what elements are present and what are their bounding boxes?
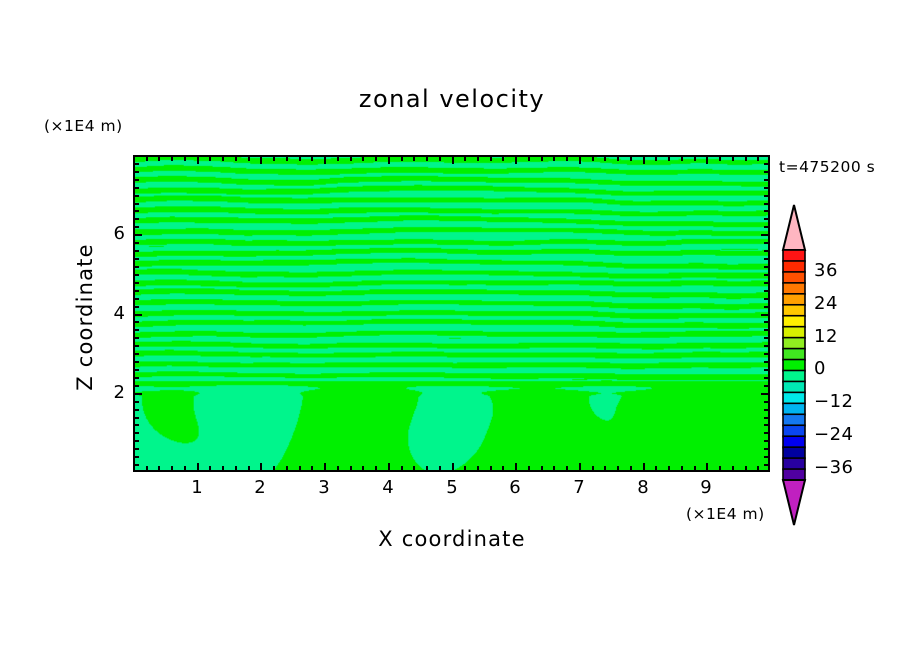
x-major-tick: [515, 463, 517, 470]
x-major-tick: [579, 463, 581, 470]
y-minor-tick: [135, 377, 139, 379]
x-minor-tick: [553, 466, 555, 470]
x-minor-tick: [566, 157, 568, 161]
x-major-tick: [324, 463, 326, 470]
colorbar: [779, 204, 809, 526]
x-minor-tick: [222, 466, 224, 470]
x-major-tick: [388, 463, 390, 470]
y-minor-tick: [135, 361, 139, 363]
x-minor-tick: [362, 466, 364, 470]
x-major-tick: [388, 157, 390, 164]
x-minor-tick: [248, 466, 250, 470]
y-major-tick: [135, 393, 142, 395]
colorbar-band: [783, 425, 805, 436]
y-minor-tick: [135, 203, 139, 205]
y-minor-tick: [764, 266, 768, 268]
y-minor-tick: [135, 242, 139, 244]
contour-field: [135, 157, 768, 470]
x-minor-tick: [630, 157, 632, 161]
x-minor-tick: [158, 157, 160, 161]
colorbar-band: [783, 370, 805, 381]
x-minor-tick: [604, 466, 606, 470]
y-minor-tick: [764, 432, 768, 434]
x-tick-label-4: 4: [368, 477, 408, 498]
y-minor-tick: [764, 401, 768, 403]
colorbar-band: [783, 436, 805, 447]
y-minor-tick: [135, 424, 139, 426]
y-minor-tick: [764, 187, 768, 189]
x-minor-tick: [184, 466, 186, 470]
x-minor-tick: [337, 466, 339, 470]
colorbar-band: [783, 316, 805, 327]
y-minor-tick: [135, 171, 139, 173]
y-minor-tick: [764, 195, 768, 197]
x-minor-tick: [477, 466, 479, 470]
x-minor-tick: [719, 157, 721, 161]
x-major-tick: [643, 463, 645, 470]
colorbar-tick-label--12: −12: [814, 391, 854, 412]
x-minor-tick: [222, 157, 224, 161]
x-minor-tick: [413, 157, 415, 161]
y-minor-tick: [135, 345, 139, 347]
y-minor-tick: [135, 210, 139, 212]
y-minor-tick: [764, 345, 768, 347]
x-minor-tick: [592, 466, 594, 470]
x-major-tick: [515, 157, 517, 164]
x-minor-tick: [694, 157, 696, 161]
x-minor-tick: [235, 157, 237, 161]
x-minor-tick: [413, 466, 415, 470]
y-minor-tick: [764, 369, 768, 371]
x-minor-tick: [311, 157, 313, 161]
x-major-tick: [643, 157, 645, 164]
x-tick-label-5: 5: [432, 477, 472, 498]
x-minor-tick: [350, 157, 352, 161]
y-minor-tick: [764, 353, 768, 355]
x-major-tick: [197, 463, 199, 470]
colorbar-band: [783, 250, 805, 261]
x-minor-tick: [719, 466, 721, 470]
y-minor-tick: [764, 290, 768, 292]
y-minor-tick: [135, 321, 139, 323]
x-major-tick: [452, 157, 454, 164]
y-minor-tick: [135, 432, 139, 434]
x-minor-tick: [375, 466, 377, 470]
x-minor-tick: [426, 157, 428, 161]
x-minor-tick: [171, 157, 173, 161]
y-minor-tick: [135, 464, 139, 466]
y-minor-tick: [764, 298, 768, 300]
colorbar-band: [783, 392, 805, 403]
y-minor-tick: [135, 337, 139, 339]
colorbar-under-arrow: [783, 480, 805, 525]
y-minor-tick: [764, 258, 768, 260]
colorbar-tick-label-12: 12: [814, 326, 838, 347]
x-minor-tick: [273, 466, 275, 470]
x-minor-tick: [477, 157, 479, 161]
y-tick-label-2: 2: [85, 382, 125, 403]
x-tick-label-2: 2: [240, 477, 280, 498]
x-minor-tick: [464, 466, 466, 470]
plot-panel: [133, 155, 770, 472]
x-minor-tick: [235, 466, 237, 470]
y-minor-tick: [764, 409, 768, 411]
colorbar-band: [783, 414, 805, 425]
y-minor-tick: [764, 218, 768, 220]
y-minor-tick: [764, 203, 768, 205]
y-minor-tick: [135, 440, 139, 442]
timestamp-label: t=475200 s: [779, 158, 875, 176]
colorbar-band: [783, 360, 805, 371]
y-minor-tick: [764, 424, 768, 426]
x-axis-title: X coordinate: [0, 527, 904, 551]
x-major-tick: [706, 463, 708, 470]
y-minor-tick: [764, 329, 768, 331]
x-minor-tick: [745, 466, 747, 470]
y-minor-tick: [764, 456, 768, 458]
x-minor-tick: [248, 157, 250, 161]
y-minor-tick: [135, 298, 139, 300]
y-minor-tick: [764, 282, 768, 284]
x-minor-tick: [617, 466, 619, 470]
y-minor-tick: [764, 417, 768, 419]
y-minor-tick: [764, 306, 768, 308]
x-minor-tick: [311, 466, 313, 470]
x-minor-tick: [668, 466, 670, 470]
x-minor-tick: [209, 157, 211, 161]
colorbar-band: [783, 349, 805, 360]
y-minor-tick: [135, 353, 139, 355]
y-minor-tick: [764, 179, 768, 181]
y-minor-tick: [764, 242, 768, 244]
x-major-tick: [260, 463, 262, 470]
y-axis-units-label: (×1E4 m): [44, 117, 123, 135]
colorbar-svg: [779, 204, 809, 526]
page-title: zonal velocity: [0, 85, 904, 113]
x-major-tick: [197, 157, 199, 164]
x-major-tick: [706, 157, 708, 164]
x-major-tick: [579, 157, 581, 164]
y-minor-tick: [135, 226, 139, 228]
y-minor-tick: [764, 464, 768, 466]
colorbar-band: [783, 447, 805, 458]
y-minor-tick: [135, 306, 139, 308]
y-minor-tick: [135, 448, 139, 450]
x-minor-tick: [681, 157, 683, 161]
x-minor-tick: [502, 466, 504, 470]
x-minor-tick: [694, 466, 696, 470]
x-minor-tick: [286, 466, 288, 470]
x-major-tick: [324, 157, 326, 164]
x-tick-label-6: 6: [495, 477, 535, 498]
x-minor-tick: [362, 157, 364, 161]
x-minor-tick: [171, 466, 173, 470]
y-minor-tick: [764, 210, 768, 212]
y-minor-tick: [135, 282, 139, 284]
x-minor-tick: [655, 466, 657, 470]
y-tick-label-4: 4: [85, 303, 125, 324]
y-minor-tick: [135, 369, 139, 371]
y-minor-tick: [135, 187, 139, 189]
x-minor-tick: [375, 157, 377, 161]
colorbar-tick-label-0: 0: [814, 358, 826, 379]
y-minor-tick: [764, 274, 768, 276]
colorbar-band: [783, 403, 805, 414]
colorbar-tick-label-36: 36: [814, 260, 838, 281]
x-minor-tick: [617, 157, 619, 161]
colorbar-band: [783, 305, 805, 316]
contour-plot-figure: zonal velocity (×1E4 m) (×1E4 m) X coord…: [0, 0, 904, 654]
y-minor-tick: [135, 417, 139, 419]
x-axis-units-label: (×1E4 m): [686, 505, 765, 523]
x-minor-tick: [668, 157, 670, 161]
x-major-tick: [452, 463, 454, 470]
colorbar-tick-label--36: −36: [814, 457, 854, 478]
y-minor-tick: [135, 385, 139, 387]
x-minor-tick: [745, 157, 747, 161]
x-minor-tick: [541, 466, 543, 470]
y-minor-tick: [135, 179, 139, 181]
x-minor-tick: [401, 466, 403, 470]
y-tick-label-6: 6: [85, 223, 125, 244]
y-minor-tick: [135, 250, 139, 252]
x-tick-label-9: 9: [686, 477, 726, 498]
y-minor-tick: [135, 290, 139, 292]
y-minor-tick: [135, 409, 139, 411]
colorbar-band: [783, 327, 805, 338]
x-minor-tick: [490, 466, 492, 470]
x-minor-tick: [146, 157, 148, 161]
y-major-tick: [761, 314, 768, 316]
colorbar-tick-label-24: 24: [814, 293, 838, 314]
x-minor-tick: [541, 157, 543, 161]
y-minor-tick: [135, 456, 139, 458]
x-minor-tick: [566, 466, 568, 470]
x-tick-label-8: 8: [623, 477, 663, 498]
x-minor-tick: [350, 466, 352, 470]
colorbar-band: [783, 272, 805, 283]
y-major-tick: [135, 234, 142, 236]
y-minor-tick: [764, 448, 768, 450]
x-major-tick: [260, 157, 262, 164]
x-minor-tick: [286, 157, 288, 161]
colorbar-band: [783, 338, 805, 349]
colorbar-band: [783, 261, 805, 272]
y-minor-tick: [764, 163, 768, 165]
x-minor-tick: [273, 157, 275, 161]
y-minor-tick: [764, 226, 768, 228]
colorbar-band: [783, 381, 805, 392]
x-minor-tick: [757, 466, 759, 470]
x-minor-tick: [158, 466, 160, 470]
x-tick-label-3: 3: [304, 477, 344, 498]
x-minor-tick: [604, 157, 606, 161]
colorbar-over-arrow: [783, 205, 805, 250]
colorbar-band: [783, 294, 805, 305]
x-minor-tick: [146, 466, 148, 470]
x-minor-tick: [732, 157, 734, 161]
y-minor-tick: [135, 258, 139, 260]
x-minor-tick: [681, 466, 683, 470]
y-minor-tick: [764, 337, 768, 339]
y-minor-tick: [135, 163, 139, 165]
y-minor-tick: [764, 361, 768, 363]
colorbar-band: [783, 458, 805, 469]
y-minor-tick: [135, 401, 139, 403]
y-minor-tick: [764, 440, 768, 442]
y-minor-tick: [764, 250, 768, 252]
y-minor-tick: [764, 321, 768, 323]
y-major-tick: [135, 314, 142, 316]
x-minor-tick: [439, 466, 441, 470]
colorbar-band: [783, 469, 805, 480]
colorbar-band: [783, 283, 805, 294]
x-minor-tick: [553, 157, 555, 161]
x-minor-tick: [184, 157, 186, 161]
x-minor-tick: [630, 466, 632, 470]
x-minor-tick: [439, 157, 441, 161]
y-major-tick: [761, 393, 768, 395]
y-minor-tick: [764, 377, 768, 379]
y-major-tick: [761, 234, 768, 236]
x-minor-tick: [337, 157, 339, 161]
y-minor-tick: [764, 385, 768, 387]
x-minor-tick: [299, 157, 301, 161]
x-minor-tick: [209, 466, 211, 470]
x-minor-tick: [592, 157, 594, 161]
y-minor-tick: [135, 266, 139, 268]
x-minor-tick: [401, 157, 403, 161]
x-tick-label-1: 1: [177, 477, 217, 498]
x-tick-label-7: 7: [559, 477, 599, 498]
y-minor-tick: [135, 218, 139, 220]
x-minor-tick: [464, 157, 466, 161]
x-minor-tick: [502, 157, 504, 161]
x-minor-tick: [426, 466, 428, 470]
y-minor-tick: [135, 195, 139, 197]
x-minor-tick: [490, 157, 492, 161]
x-minor-tick: [528, 157, 530, 161]
x-minor-tick: [528, 466, 530, 470]
x-minor-tick: [299, 466, 301, 470]
y-minor-tick: [135, 274, 139, 276]
x-minor-tick: [655, 157, 657, 161]
colorbar-tick-label--24: −24: [814, 424, 854, 445]
y-minor-tick: [764, 171, 768, 173]
x-minor-tick: [757, 157, 759, 161]
x-minor-tick: [732, 466, 734, 470]
y-minor-tick: [135, 329, 139, 331]
